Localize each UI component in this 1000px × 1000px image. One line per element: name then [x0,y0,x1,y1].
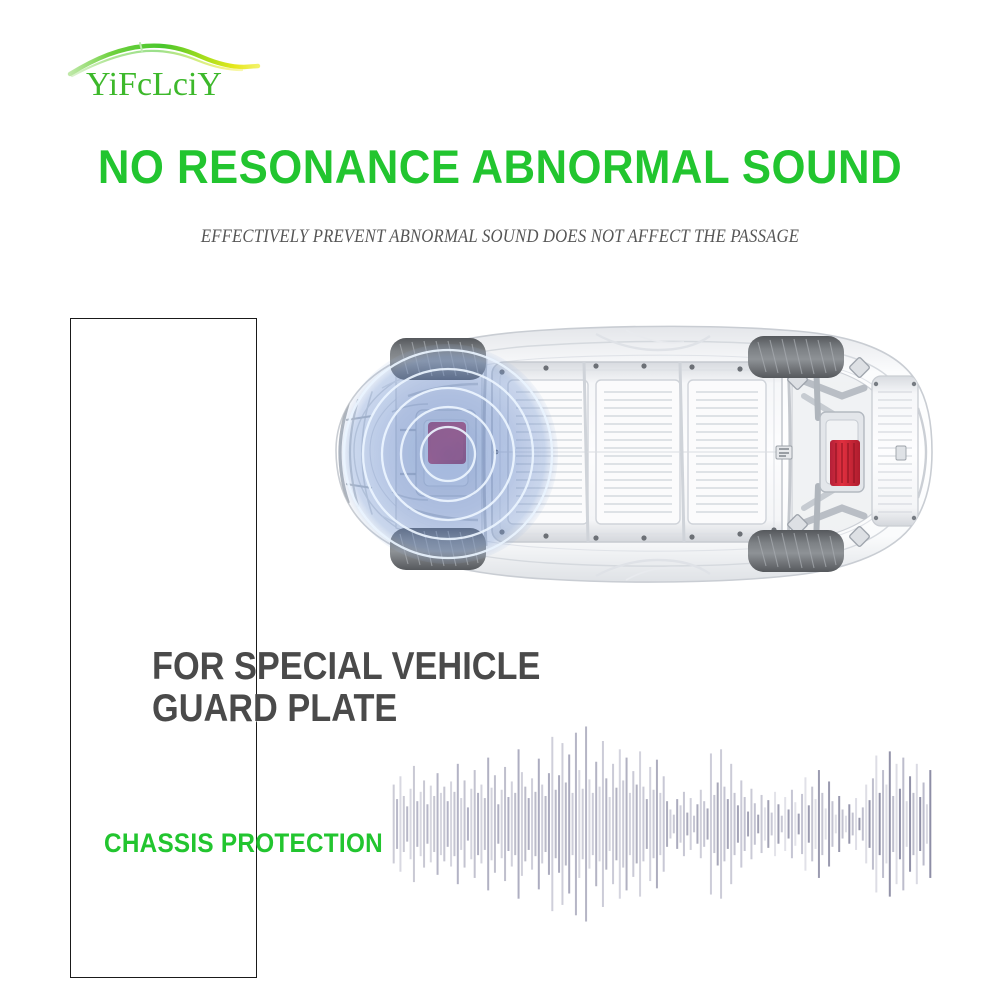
waveform-bars [392,718,932,930]
chassis-protection-badge: CHASSIS PROTECTION [104,828,383,859]
ev-chassis-illustration [296,300,946,610]
feature-heading-line1: FOR SPECIAL VEHICLE [152,645,540,688]
wheel-front-right [748,336,844,378]
brand-name: YiFcLciY [86,68,222,102]
sound-waveform-chart [392,718,932,930]
poster-root: YiFcLciY NO RESONANCE ABNORMAL SOUND EFF… [0,0,1000,1000]
page-subtitle: EFFECTIVELY PREVENT ABNORMAL SOUND DOES … [60,226,940,248]
page-title: NO RESONANCE ABNORMAL SOUND [35,142,965,191]
sound-ripple-icon [338,344,558,564]
wheel-rear-right [748,530,844,572]
ev-chassis-underbody-topview [296,300,946,610]
brand-logo: YiFcLciY [62,36,282,108]
